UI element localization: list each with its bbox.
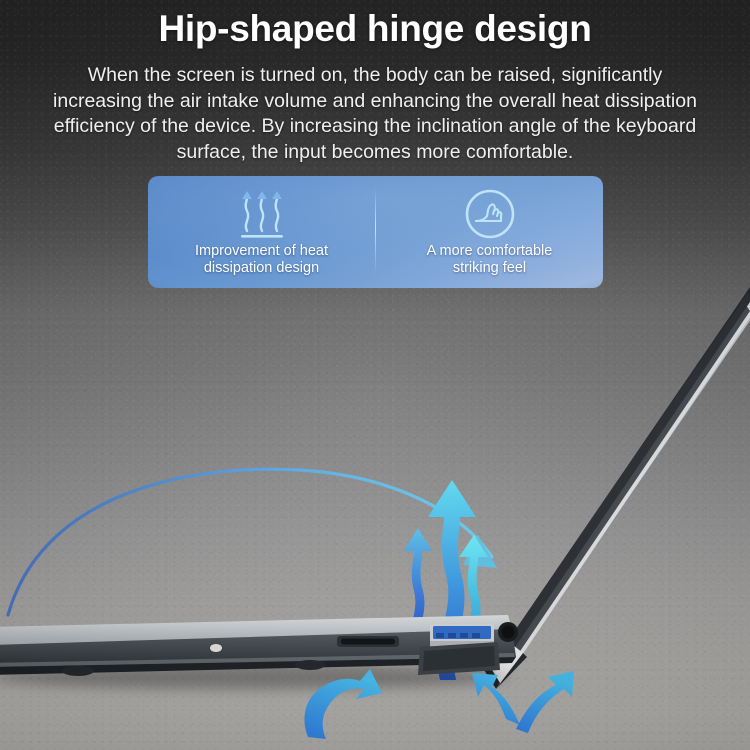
product-feature-slide: Hip-shaped hinge design When the screen … <box>0 0 750 750</box>
rubber-foot <box>295 660 325 670</box>
heat-waves-icon <box>233 185 291 243</box>
page-title: Hip-shaped hinge design <box>0 8 750 50</box>
feature-item-striking-feel: A more comfortable striking feel <box>376 176 603 288</box>
laptop-lid <box>496 287 750 669</box>
rubber-foot <box>62 666 94 676</box>
air-intake-arrow-right <box>472 671 574 733</box>
feature-panel: Improvement of heat dissipation design <box>148 176 603 288</box>
page-description: When the screen is turned on, the body c… <box>50 63 700 165</box>
port-mini-hdmi <box>337 636 399 647</box>
feature-item-heat-dissipation: Improvement of heat dissipation design <box>148 176 375 288</box>
status-led-indicator <box>210 644 222 652</box>
port-audio-jack <box>498 622 518 642</box>
feature-label-heat: Improvement of heat dissipation design <box>195 243 328 277</box>
laptop-illustration <box>0 285 750 750</box>
hand-typing-circle-icon <box>463 185 517 243</box>
feature-label-striking: A more comfortable striking feel <box>427 243 553 277</box>
